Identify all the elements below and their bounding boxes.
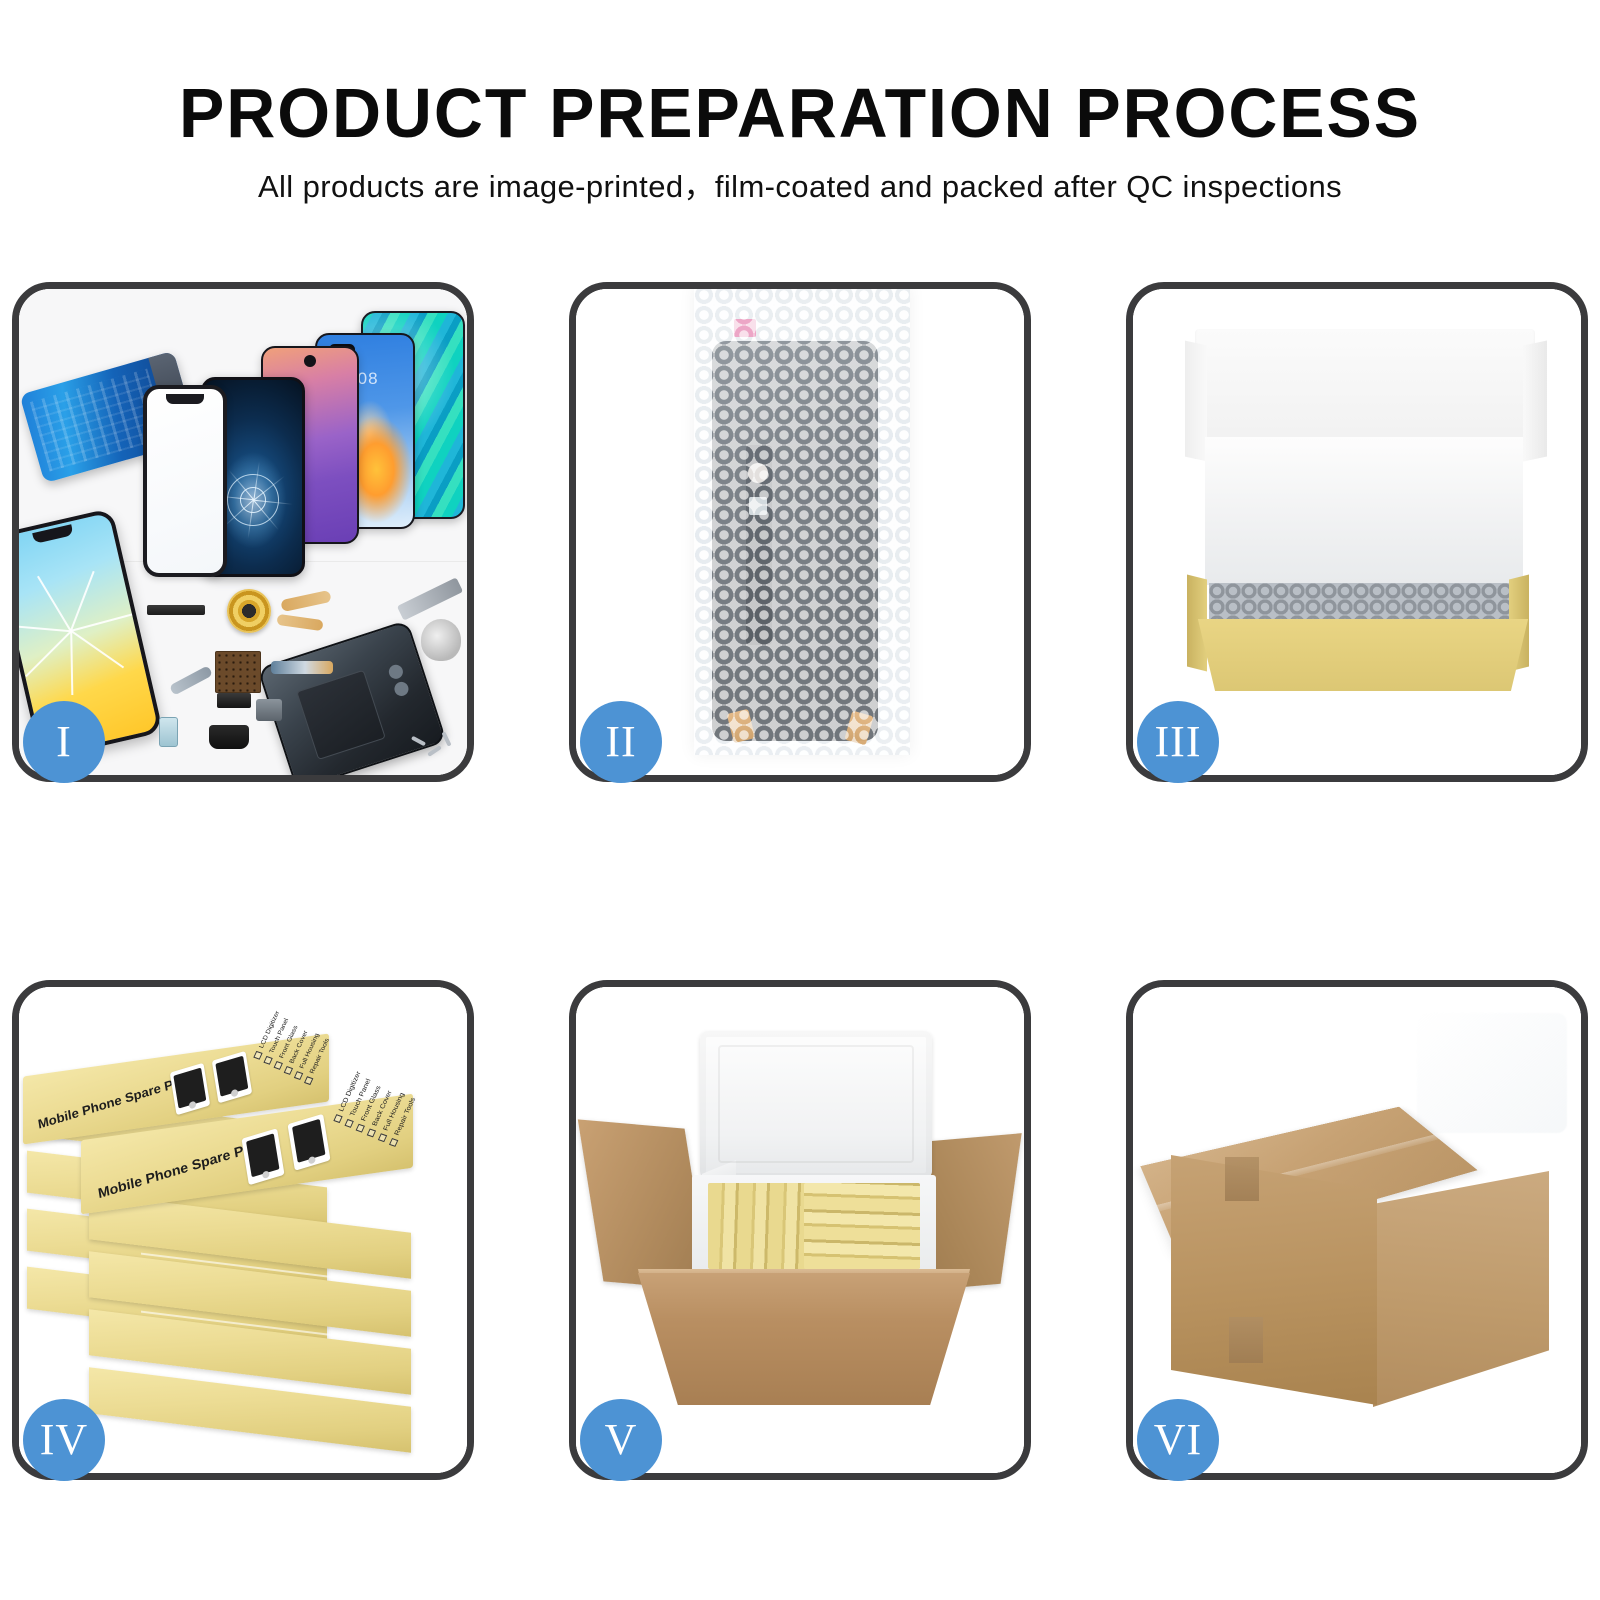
speaker-bar-icon [147, 605, 205, 615]
step-image-4: Mobile Phone Spare Parts LCD Digitizer T… [19, 987, 467, 1473]
step-panel-4[interactable]: Mobile Phone Spare Parts LCD Digitizer T… [12, 980, 474, 1480]
ic-chip-icon [215, 651, 261, 693]
capacitor-icon [217, 693, 251, 708]
lcd-flex-ribbon [746, 445, 772, 645]
step-badge-5: V [580, 1399, 662, 1481]
step-badge-1: I [23, 701, 105, 783]
page-header: PRODUCT PREPARATION PROCESS All products… [0, 0, 1600, 204]
cleaning-brush-icon [421, 619, 461, 661]
screws-icon [411, 735, 455, 761]
box-phone-thumbnail [212, 1051, 252, 1104]
styrofoam-lid-image [700, 1031, 932, 1179]
step-image-6 [1133, 987, 1581, 1473]
earpiece-icon [209, 725, 249, 749]
step-badge-4: IV [23, 1399, 105, 1481]
carton-tape-lower [1229, 1317, 1263, 1363]
flex-cable-icon [271, 661, 333, 674]
box-front-panel [1191, 619, 1535, 691]
speaker-module-icon [256, 699, 282, 721]
lcd-assembly-image [712, 341, 878, 741]
foam-sheet-image [1205, 437, 1523, 585]
box-checklist: LCD Digitizer Touch Panel Front Glass Ba… [336, 1089, 442, 1164]
wireless-charging-coil-icon [227, 589, 271, 633]
retail-box-stack-image: Mobile Phone Spare Parts LCD Digitizer T… [19, 1013, 467, 1443]
step-image-5 [576, 987, 1024, 1473]
box-checklist: LCD Digitizer Touch Panel Front Glass Ba… [256, 1028, 354, 1101]
box-phone-thumbnail [287, 1114, 330, 1171]
step-badge-3: III [1137, 701, 1219, 783]
step-panel-6[interactable]: VI [1126, 980, 1588, 1480]
step-badge-2: II [580, 701, 662, 783]
carton-tape-upper [1225, 1157, 1259, 1201]
step-panel-2[interactable]: II [569, 282, 1031, 782]
process-steps-grid: 08:08 [12, 282, 1590, 1462]
step-image-3 [1133, 289, 1581, 775]
box-phone-thumbnail [170, 1063, 210, 1116]
page-title: PRODUCT PREPARATION PROCESS [24, 0, 1576, 148]
step-image-2 [576, 289, 1024, 775]
box-phone-thumbnail [241, 1128, 284, 1185]
bubble-wrap-pouch-image [694, 289, 910, 755]
tempered-glass-image [143, 385, 227, 577]
carton-front-face [1171, 1155, 1377, 1405]
gold-boxes-fill [804, 1183, 920, 1269]
step-badge-6: VI [1137, 1399, 1219, 1481]
page-subtitle: All products are image-printed，film-coat… [0, 148, 1600, 204]
plastic-wrap-sheet [1417, 1013, 1567, 1133]
step-panel-5[interactable]: V [569, 980, 1031, 1480]
infographic-page: PRODUCT PREPARATION PROCESS All products… [0, 0, 1600, 1600]
sim-tray-icon [159, 717, 178, 747]
carton-body [638, 1273, 970, 1405]
step-panel-3[interactable]: III [1126, 282, 1588, 782]
step-panel-1[interactable]: 08:08 [12, 282, 474, 782]
pink-label-sticker [734, 319, 756, 337]
step-image-1: 08:08 [19, 289, 467, 775]
